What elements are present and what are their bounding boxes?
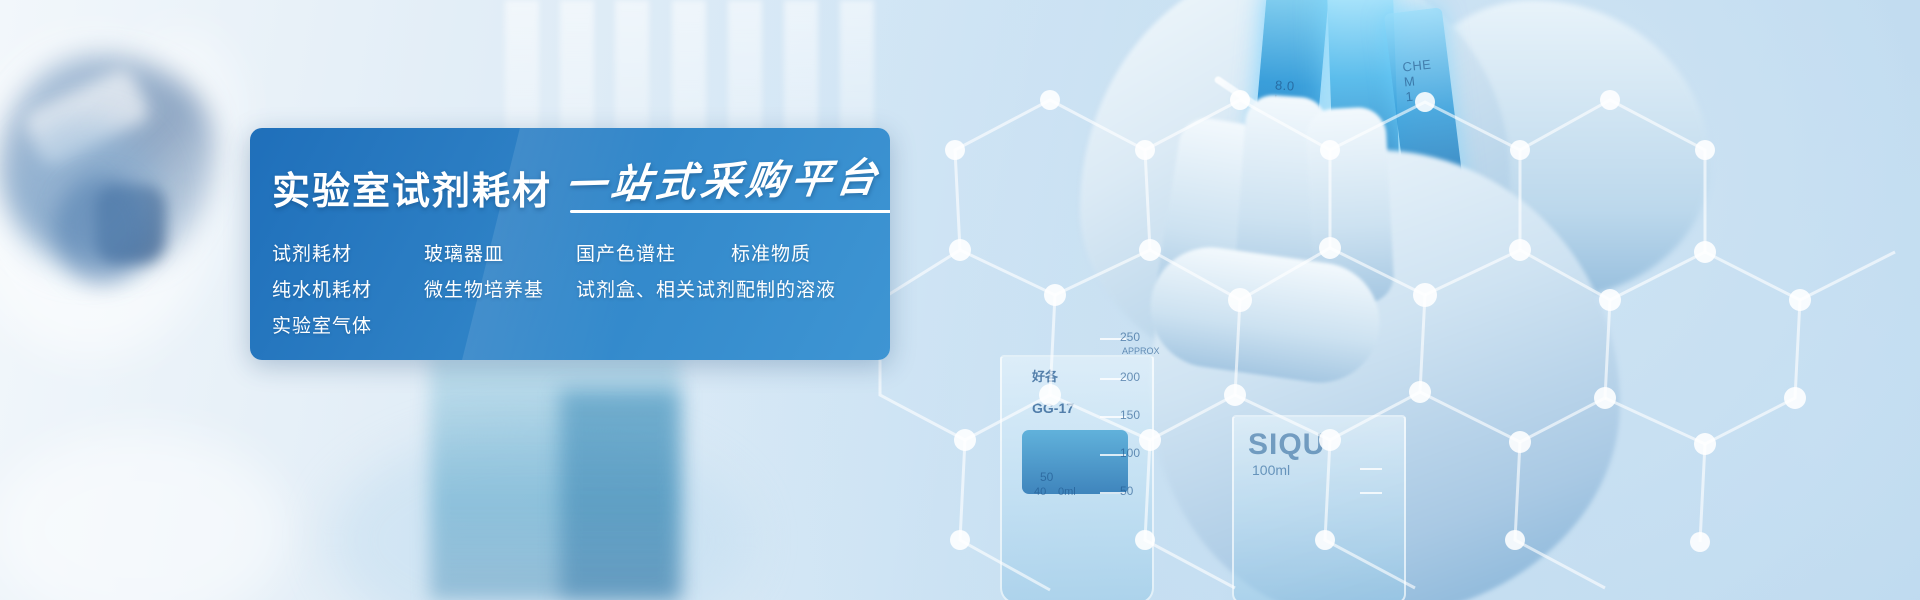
beaker-grad-40-left: 40 (1034, 486, 1046, 498)
category-link-glassware[interactable]: 玻璃器皿 (424, 245, 576, 264)
page-title-brush-wrap: 一站式采购平台 (566, 162, 881, 211)
category-link-laboratory-gas[interactable]: 实验室气体 (272, 317, 424, 336)
category-link-reagent-kits-solutions[interactable]: 试剂盒、相关试剂配制的溶液 (576, 281, 836, 300)
beaker-ml-label: 0ml (1058, 486, 1076, 498)
category-row-1: 试剂耗材 玻璃器皿 国产色谱柱 标准物质 (272, 245, 890, 264)
page-title-brush: 一站式采购平台 (563, 158, 884, 206)
promo-panel: 实验室试剂耗材 一站式采购平台 试剂耗材 玻璃器皿 国产色谱柱 标准物质 纯水机… (250, 128, 890, 360)
beaker-grad-100: 100 (1120, 446, 1140, 460)
beaker-grad-150: 150 (1120, 408, 1140, 422)
glassware-column-blur-2 (560, 390, 680, 600)
beaker-grad-tick (1360, 468, 1382, 470)
beaker-liquid (1022, 430, 1128, 494)
category-list: 试剂耗材 玻璃器皿 国产色谱柱 标准物质 纯水机耗材 微生物培养基 试剂盒、相关… (272, 245, 890, 336)
beaker-grad-approx: APPROX (1122, 346, 1160, 356)
banner-title-row: 实验室试剂耗材 一站式采购平台 (272, 162, 890, 211)
page-title-main: 实验室试剂耗材 (272, 173, 552, 211)
beaker-secondary-brand: SIQU (1248, 428, 1325, 462)
category-row-3: 实验室气体 (272, 317, 890, 336)
test-tube-label-2: CHEM1 (1402, 57, 1435, 105)
category-link-reagent-consumables[interactable]: 试剂耗材 (272, 245, 424, 264)
beaker-grad-50-left: 50 (1040, 470, 1053, 484)
category-link-water-purifier-consumables[interactable]: 纯水机耗材 (272, 281, 424, 300)
beaker-secondary-volume: 100ml (1252, 462, 1290, 478)
bokeh-blur-3 (55, 175, 150, 285)
category-link-reference-material[interactable]: 标准物质 (731, 245, 811, 264)
category-link-domestic-chromatography-column[interactable]: 国产色谱柱 (576, 245, 731, 264)
beaker-grad-tick (1360, 492, 1382, 494)
beaker-grad-250: 250 (1120, 330, 1140, 344)
category-row-2: 纯水机耗材 微生物培养基 试剂盒、相关试剂配制的溶液 (272, 281, 890, 300)
beaker-brand-mark: 好各 (1032, 366, 1058, 385)
category-link-microbial-culture-media[interactable]: 微生物培养基 (424, 281, 576, 300)
beaker-grad-200: 200 (1120, 370, 1140, 384)
beaker-grad-50: 50 (1120, 484, 1133, 498)
title-underline (570, 210, 890, 213)
beaker-glass-code: GG-17 (1032, 400, 1074, 416)
lab-reagent-hero-banner: 8.0lm0. CHEM1 250 APPROX 200 150 100 50 … (0, 0, 1920, 600)
